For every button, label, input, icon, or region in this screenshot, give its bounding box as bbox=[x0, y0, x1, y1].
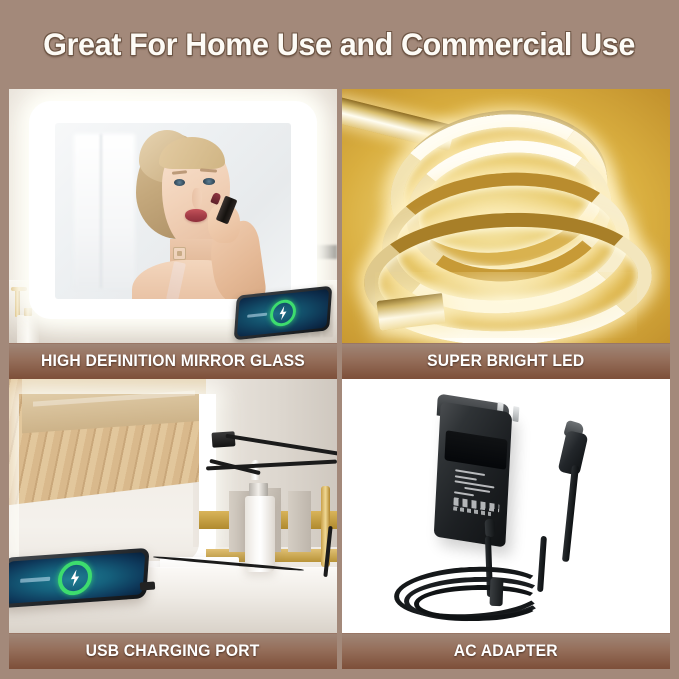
smartphone-charging bbox=[9, 547, 150, 608]
caption-bar-mirror: HIGH DEFINITION MIRROR GLASS bbox=[9, 343, 337, 379]
feature-collage-grid: HIGH DEFINITION MIRROR GLASS SUPER BRIGH… bbox=[9, 89, 670, 669]
adapter-spec-label bbox=[449, 466, 507, 523]
touch-sensor-icon[interactable] bbox=[173, 247, 186, 260]
feature-card-usb-charging-port: USB CHARGING PORT bbox=[9, 379, 337, 669]
led-vanity-mirror bbox=[29, 101, 317, 319]
caption-label: AC ADAPTER bbox=[454, 642, 558, 661]
shelf-box bbox=[288, 491, 311, 552]
gold-faucet-icon bbox=[15, 289, 20, 317]
prong bbox=[513, 406, 520, 422]
phone-screen bbox=[237, 289, 329, 337]
title-bar: Great For Home Use and Commercial Use bbox=[0, 0, 679, 89]
cord-tie bbox=[489, 578, 503, 606]
window-mullion bbox=[100, 134, 102, 289]
mirror-glass-surface bbox=[55, 123, 291, 299]
phone-cable-plug bbox=[140, 581, 156, 590]
charging-label bbox=[247, 312, 267, 318]
caption-label: HIGH DEFINITION MIRROR GLASS bbox=[41, 352, 305, 371]
dc-plug-cord bbox=[562, 465, 579, 562]
caption-label: SUPER BRIGHT LED bbox=[427, 352, 584, 371]
phone-screen bbox=[9, 552, 146, 604]
woman-reflection bbox=[126, 123, 291, 299]
caption-bar-usb: USB CHARGING PORT bbox=[9, 633, 337, 669]
lotion-bottle bbox=[245, 496, 275, 572]
led-glow bbox=[375, 272, 637, 338]
charging-label bbox=[20, 577, 51, 583]
mirror-photo bbox=[9, 89, 337, 343]
cord-strain-relief bbox=[484, 518, 495, 536]
bottle-collar bbox=[249, 483, 268, 496]
ac-adapter-photo bbox=[342, 379, 670, 633]
caption-label: USB CHARGING PORT bbox=[86, 642, 260, 661]
gold-faucet-spout-icon bbox=[11, 287, 27, 291]
nose bbox=[192, 188, 202, 209]
eye bbox=[203, 178, 215, 185]
usb-charging-photo bbox=[9, 379, 337, 633]
lips bbox=[185, 209, 206, 221]
label-text-line bbox=[454, 492, 474, 497]
caption-bar-adapter: AC ADAPTER bbox=[342, 633, 670, 669]
cosmetic-bottle bbox=[17, 315, 39, 343]
led-strip-photo bbox=[342, 89, 670, 343]
feature-card-super-bright-led: SUPER BRIGHT LED bbox=[342, 89, 670, 379]
label-text-line bbox=[464, 487, 490, 493]
caption-bar-led: SUPER BRIGHT LED bbox=[342, 343, 670, 379]
feature-card-ac-adapter: AC ADAPTER bbox=[342, 379, 670, 669]
feature-card-high-definition-mirror-glass: HIGH DEFINITION MIRROR GLASS bbox=[9, 89, 337, 379]
page-title: Great For Home Use and Commercial Use bbox=[44, 26, 636, 63]
